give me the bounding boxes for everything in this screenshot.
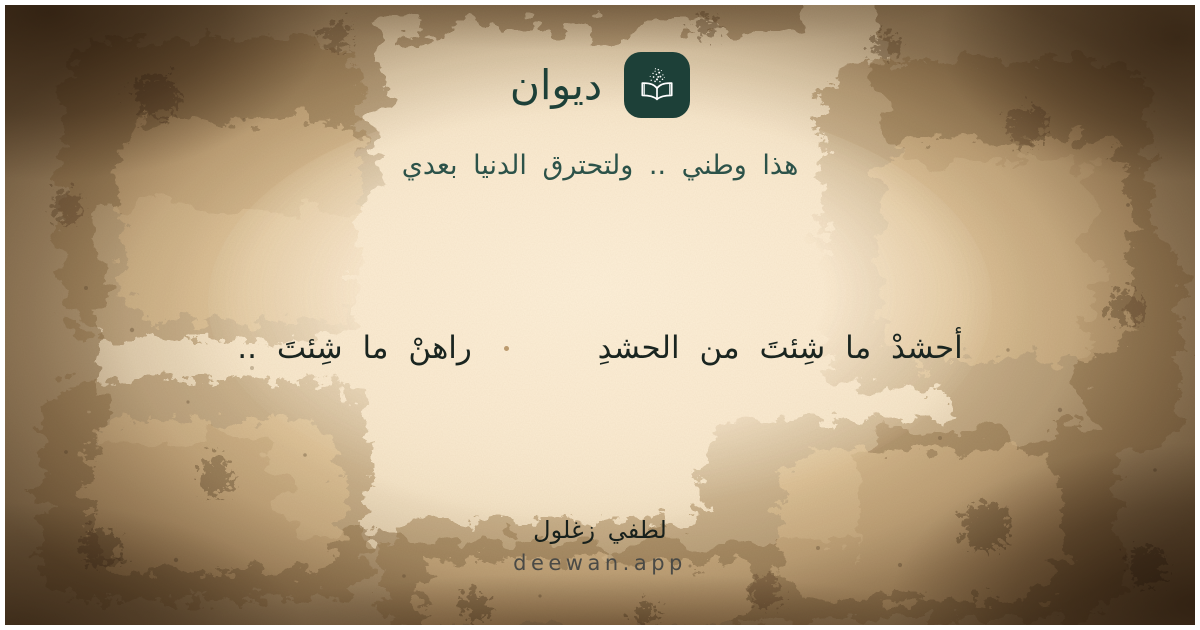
brand-name: ديوان (510, 65, 602, 106)
verse-hemistich-2: راهنْ ما شِئتَ .. (237, 330, 472, 366)
verse-line: أحشدْ ما شِئتَ من الحشدِ راهنْ ما شِئتَ … (237, 321, 962, 375)
card-content: ديوان هذا وطني .. ولتحترق الدنيا بعدي أح… (0, 0, 1200, 630)
brand-header[interactable]: ديوان (510, 52, 690, 118)
open-book-with-sparkles-icon (636, 64, 678, 106)
paper-speck (504, 346, 509, 351)
verse-hemistich-1: أحشدْ ما شِئتَ من الحشدِ (598, 330, 963, 366)
poet-name: لطفي زغلول (533, 516, 667, 545)
deewan-logo-badge[interactable] (624, 52, 690, 118)
card-footer: لطفي زغلول deewan.app (513, 516, 687, 576)
poetry-card: 40,077 - 589,000 10,077 - 580,000 88,900… (0, 0, 1200, 630)
site-url[interactable]: deewan.app (513, 551, 687, 576)
verse-container: أحشدْ ما شِئتَ من الحشدِ راهنْ ما شِئتَ … (0, 181, 1200, 517)
